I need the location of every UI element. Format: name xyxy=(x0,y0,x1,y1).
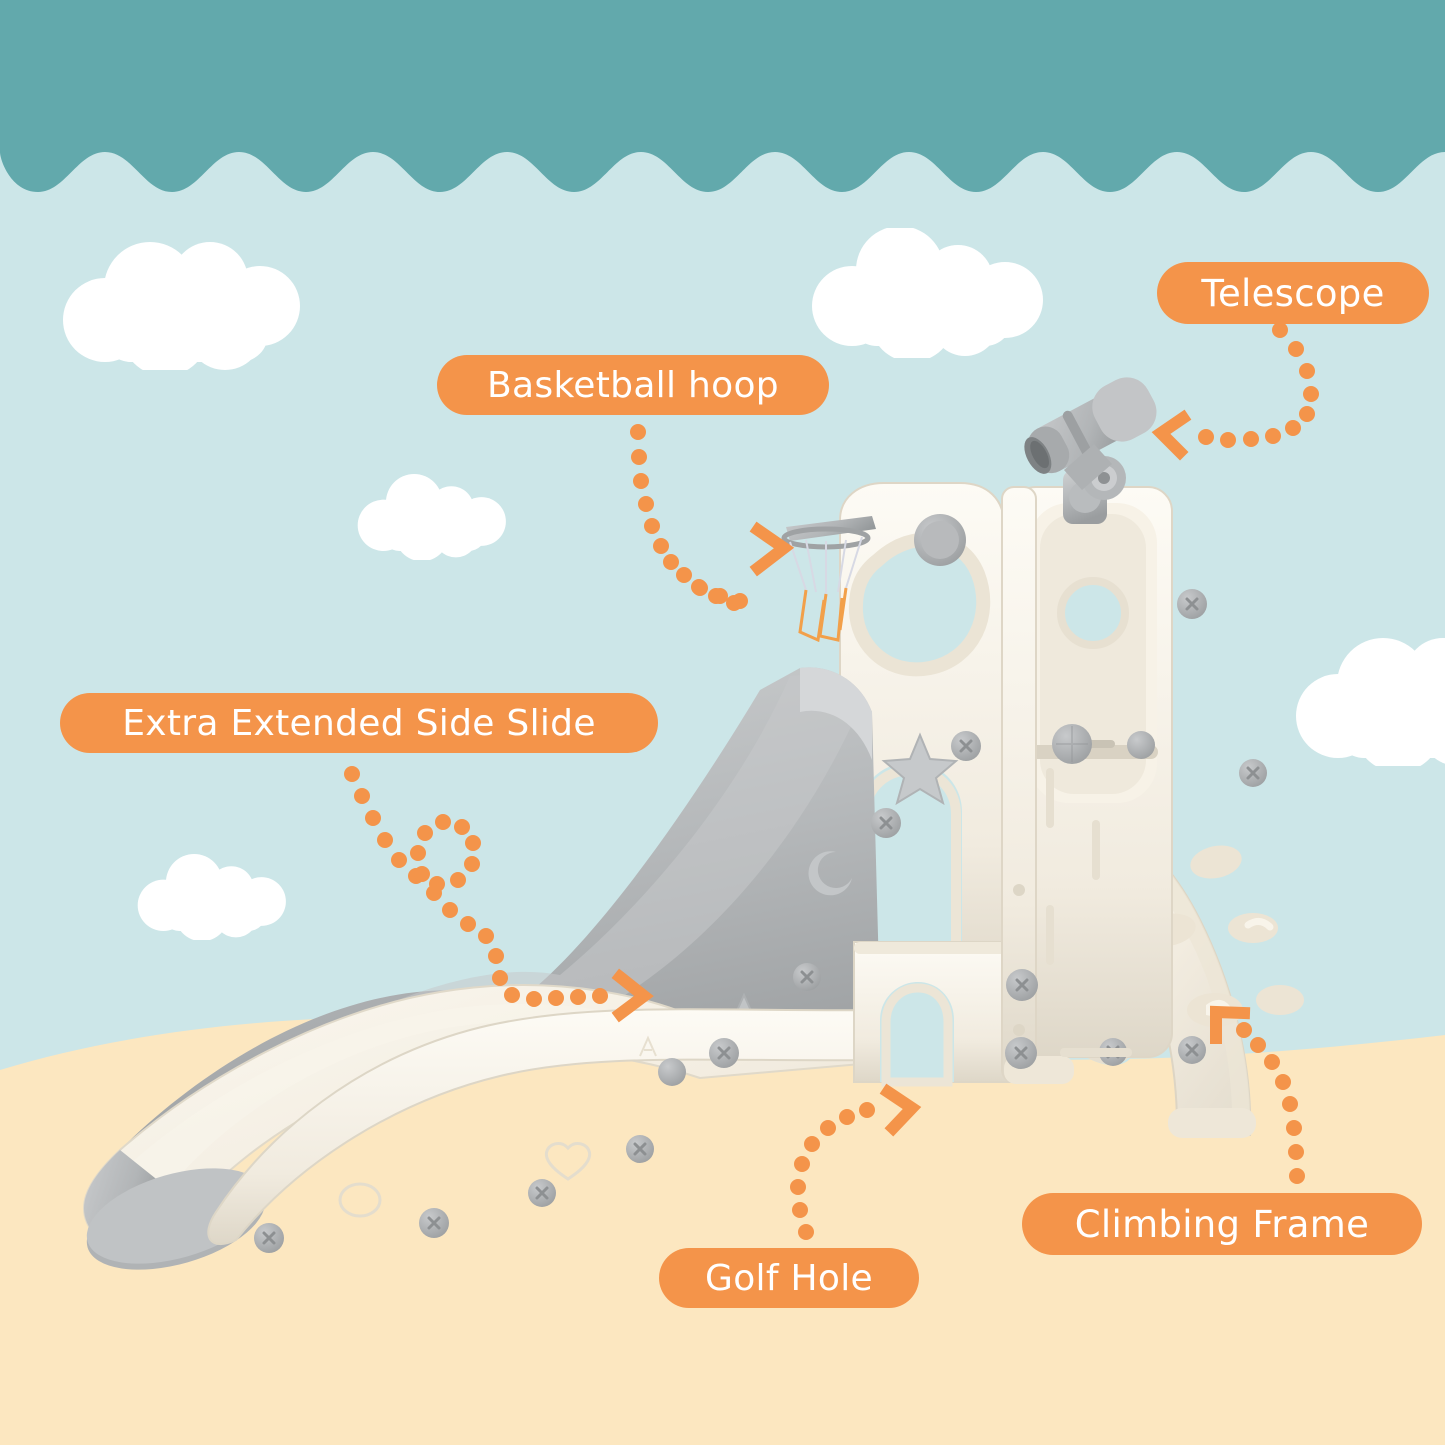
label-basketball-hoop-text: Basketball hoop xyxy=(487,365,779,406)
label-telescope[interactable]: Telescope xyxy=(1157,262,1429,324)
label-climbing-frame-text: Climbing Frame xyxy=(1075,1203,1369,1246)
header-band xyxy=(0,0,1445,200)
label-climbing-frame[interactable]: Climbing Frame xyxy=(1022,1193,1422,1255)
golf-hole-part xyxy=(854,942,1010,1082)
label-golf-hole[interactable]: Golf Hole xyxy=(659,1248,919,1308)
infographic-canvas: Telescope Basketball hoop Extra Extended… xyxy=(0,0,1445,1445)
label-golf-hole-text: Golf Hole xyxy=(705,1258,873,1299)
label-side-slide-text: Extra Extended Side Slide xyxy=(122,703,596,744)
label-basketball-hoop[interactable]: Basketball hoop xyxy=(437,355,829,415)
label-extra-extended-side-slide[interactable]: Extra Extended Side Slide xyxy=(60,693,658,753)
label-telescope-text: Telescope xyxy=(1201,272,1384,315)
slide-runout-part xyxy=(76,985,884,1288)
header-wave-shape xyxy=(0,0,1445,192)
